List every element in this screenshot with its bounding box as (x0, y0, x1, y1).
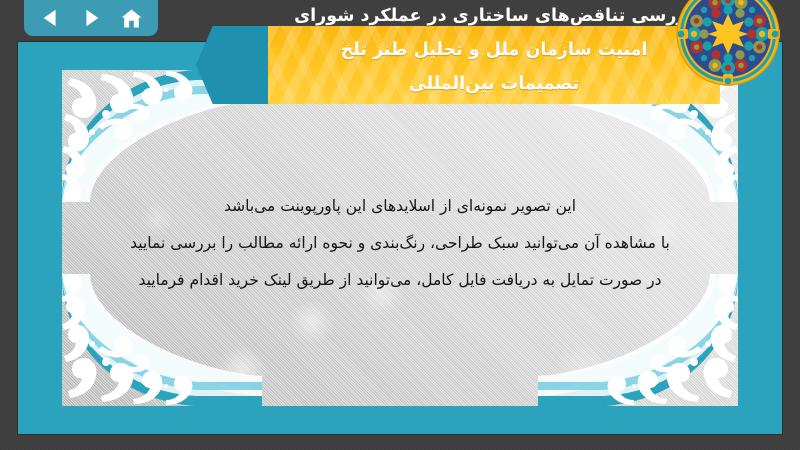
body-line-1: این تصویر نمونه‌ای از اسلایدهای این پاور… (122, 188, 678, 225)
body-line-3: در صورت تمایل به دریافت فایل کامل، می‌تو… (122, 262, 678, 299)
page-title: بررسی تناقض‌های ساختاری در عملکرد شورای … (268, 0, 720, 101)
title-line-2: امنیت سازمان ملل و تحلیل طنز تلخ (268, 33, 720, 67)
triangle-right-icon (80, 7, 102, 29)
previous-slide-button[interactable] (38, 5, 64, 31)
slide-body-text: این تصویر نمونه‌ای از اسلایدهای این پاور… (122, 188, 678, 299)
title-line-3: تصمیمات بین‌المللی (268, 67, 720, 101)
slide-navigation-bar (24, 0, 158, 36)
title-line-1: بررسی تناقض‌های ساختاری در عملکرد شورای (268, 0, 720, 33)
home-icon (120, 7, 143, 30)
home-button[interactable] (118, 5, 144, 31)
slide-title-banner: بررسی تناقض‌های ساختاری در عملکرد شورای … (268, 0, 720, 104)
body-line-2: با مشاهده آن می‌توانید سبک طراحی، رنگ‌بن… (122, 225, 678, 262)
next-slide-button[interactable] (78, 5, 104, 31)
triangle-left-icon (40, 7, 62, 29)
slide-viewer-app: این تصویر نمونه‌ای از اسلایدهای این پاور… (0, 0, 800, 450)
slide-content-area: این تصویر نمونه‌ای از اسلایدهای این پاور… (62, 70, 738, 406)
persian-medallion-icon (674, 0, 782, 88)
